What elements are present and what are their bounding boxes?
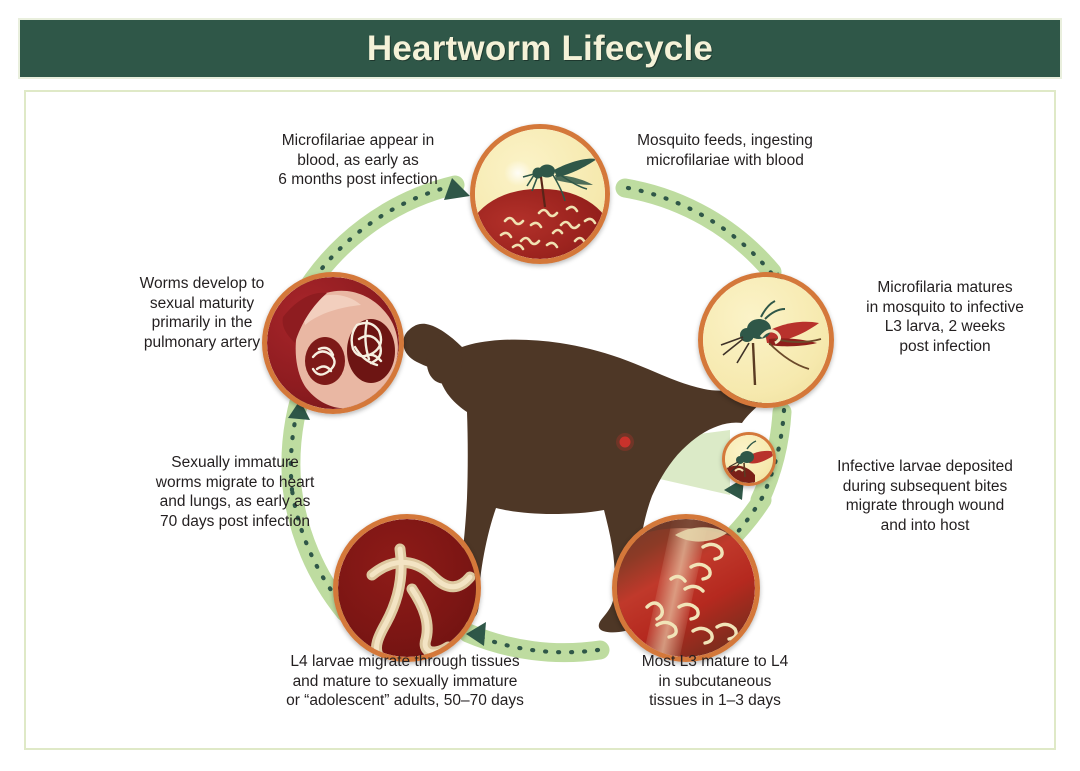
caption-l3-matures: Microfilaria matures in mosquito to infe… [830,278,1060,356]
stage-image-l3-matures [698,272,834,408]
microfilariae-group [475,129,605,259]
stage-image-most-l3 [612,514,760,662]
stage-image-infective-deposited [722,432,776,486]
zoom-cone [620,430,730,495]
caption-most-l3: Most L3 mature to L4 in subcutaneous tis… [600,652,830,711]
stage-image-l4-larvae [333,514,481,662]
caption-worms-develop: Worms develop to sexual maturity primari… [112,274,292,352]
stage-image-mosquito-feeds [470,124,610,264]
caption-microfilariae-appear: Microfilariae appear in blood, as early … [238,131,478,190]
heartworm-lifecycle-poster: Heartworm Lifecycle [0,0,1080,771]
caption-l4-larvae: L4 larvae migrate through tissues and ma… [255,652,555,711]
caption-infective-deposited: Infective larvae deposited during subseq… [795,457,1055,535]
engorged-mosquito-icon [721,301,821,385]
caption-mosquito-feeds: Mosquito feeds, ingesting microfilariae … [600,131,850,170]
arc-top-right [625,188,772,272]
vessel-left [305,337,345,385]
caption-sexually-immature: Sexually immature worms migrate to heart… [125,453,345,531]
